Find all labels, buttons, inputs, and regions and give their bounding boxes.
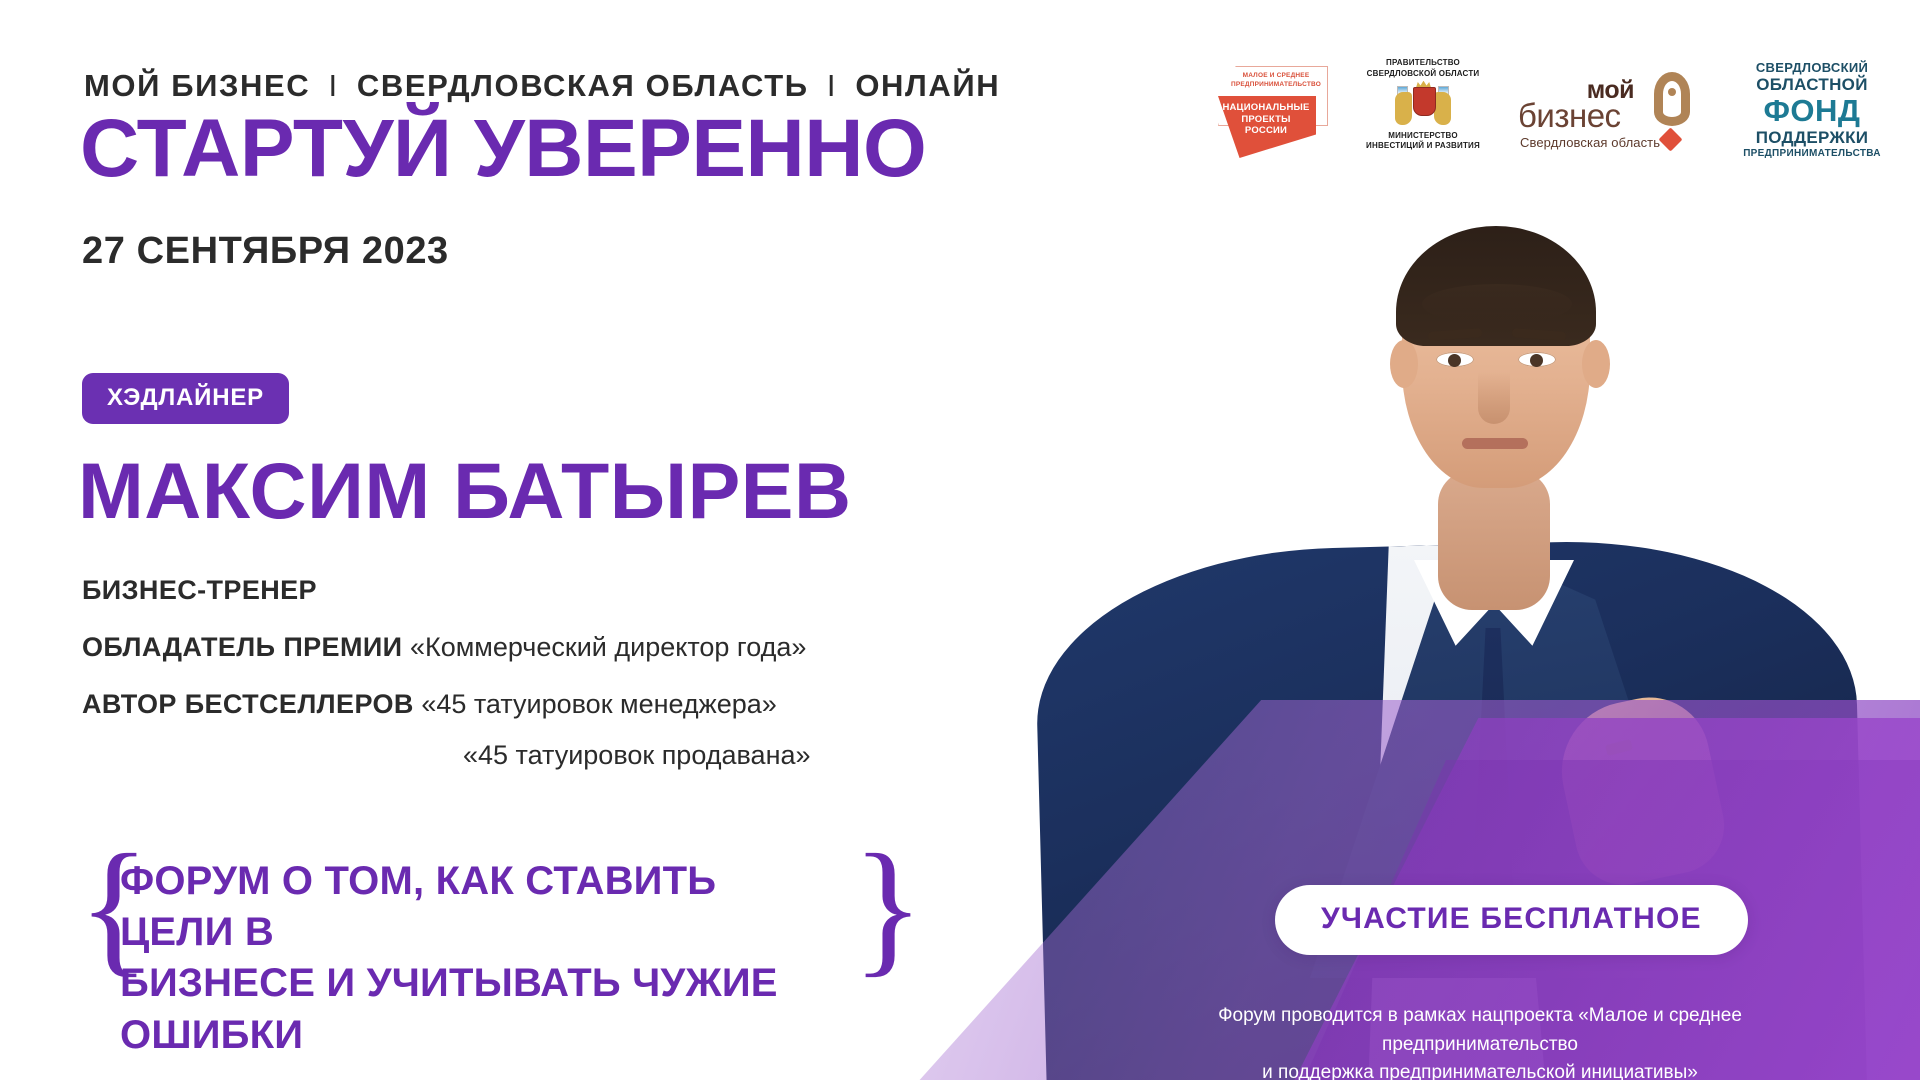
- gov-top-line-2: СВЕРДЛОВСКОЙ ОБЛАСТИ: [1364, 69, 1482, 80]
- event-date: 27 СЕНТЯБРЯ 2023: [82, 230, 449, 273]
- book-title-2: «45 татуировок продавана»: [463, 740, 811, 770]
- arms-shield: [1413, 87, 1436, 116]
- forum-slogan: { ФОРУМ О ТОМ, КАК СТАВИТЬ ЦЕЛИ В БИЗНЕС…: [78, 848, 878, 978]
- kicker-separator-1: I: [328, 68, 338, 103]
- np-subject-lines: МАЛОЕ И СРЕДНЕЕ ПРЕДПРИНИМАТЕЛЬСТВО: [1230, 72, 1322, 90]
- fund-line-1: СВЕРДЛОВСКИЙ: [1732, 60, 1892, 75]
- slogan-line-2: БИЗНЕСЕ И УЧИТЫВАТЬ ЧУЖИЕ ОШИБКИ: [120, 958, 840, 1060]
- speaker-book-second-line: «45 татуировок продавана»: [463, 740, 811, 771]
- mb-word-main: бизнес: [1518, 97, 1621, 135]
- speaker-award: ОБЛАДАТЕЛЬ ПРЕМИИ «Коммерческий директор…: [82, 632, 806, 663]
- books-label: АВТОР БЕСТСЕЛЛЕРОВ: [82, 689, 414, 719]
- kicker-part-3: ОНЛАЙН: [855, 68, 1000, 103]
- bracket-open: {: [78, 848, 104, 978]
- mb-region: Свердловская область: [1520, 135, 1660, 150]
- neck: [1438, 470, 1550, 610]
- gov-bottom-line-2: ИНВЕСТИЦИЙ И РАЗВИТИЯ: [1364, 141, 1482, 152]
- gov-top-lines: ПРАВИТЕЛЬСТВО СВЕРДЛОВСКОЙ ОБЛАСТИ: [1364, 58, 1482, 80]
- speaker-role-text: БИЗНЕС-ТРЕНЕР: [82, 575, 317, 605]
- slogan-line-1: ФОРУМ О ТОМ, КАК СТАВИТЬ ЦЕЛИ В: [120, 856, 840, 958]
- arms-griffin-right: [1434, 92, 1451, 125]
- footer-disclaimer: Форум проводится в рамках нацпроекта «Ма…: [1120, 1002, 1840, 1080]
- gov-bottom-lines: МИНИСТЕРСТВО ИНВЕСТИЦИЙ И РАЗВИТИЯ: [1364, 131, 1482, 153]
- bracket-close: }: [852, 848, 878, 978]
- event-title: СТАРТУЙ УВЕРЕННО: [80, 106, 926, 192]
- award-value: «Коммерческий директор года»: [410, 632, 806, 662]
- speaker-books: АВТОР БЕСТСЕЛЛЕРОВ «45 татуировок менедж…: [82, 689, 777, 720]
- eye-right: [1518, 352, 1556, 367]
- fund-logo: СВЕРДЛОВСКИЙ ОБЛАСТНОЙ ФОНД ПОДДЕРЖКИ ПР…: [1732, 60, 1892, 160]
- banner-kicker: МОЙ БИЗНЕС I СВЕРДЛОВСКАЯ ОБЛАСТЬ I ОНЛА…: [84, 68, 1000, 104]
- footer-line-1: Форум проводится в рамках нацпроекта «Ма…: [1120, 1002, 1840, 1059]
- np-subject-line-1: МАЛОЕ И СРЕДНЕЕ: [1230, 72, 1322, 81]
- ear-left: [1390, 340, 1418, 388]
- free-participation-button[interactable]: УЧАСТИЕ БЕСПЛАТНОЕ: [1275, 885, 1748, 955]
- gov-top-line-1: ПРАВИТЕЛЬСТВО: [1364, 58, 1482, 69]
- speaker-name: МАКСИМ БАТЫРЕВ: [78, 450, 852, 533]
- government-logo: ПРАВИТЕЛЬСТВО СВЕРДЛОВСКОЙ ОБЛАСТИ МИНИС…: [1364, 58, 1482, 162]
- fund-line-2: ОБЛАСТНОЙ: [1732, 75, 1892, 95]
- kicker-part-1: МОЙ БИЗНЕС: [84, 68, 310, 103]
- kicker-separator-2: I: [827, 68, 837, 103]
- pin-diamond: [1658, 127, 1682, 151]
- coat-of-arms-icon: [1394, 84, 1452, 128]
- np-main-line-1: НАЦИОНАЛЬНЫЕ: [1220, 102, 1312, 114]
- book-title-1: «45 татуировок менеджера»: [421, 689, 776, 719]
- mouth: [1462, 438, 1528, 449]
- np-main-lines: НАЦИОНАЛЬНЫЕ ПРОЕКТЫ РОССИИ: [1220, 102, 1312, 137]
- nose: [1478, 372, 1510, 424]
- ear-right: [1582, 340, 1610, 388]
- pin-shape: [1654, 72, 1690, 126]
- fund-line-4: ПОДДЕРЖКИ: [1732, 128, 1892, 148]
- speaker-role: БИЗНЕС-ТРЕНЕР: [82, 575, 317, 606]
- my-business-logo: мой бизнес Свердловская область: [1518, 64, 1696, 156]
- partner-logos: МАЛОЕ И СРЕДНЕЕ ПРЕДПРИНИМАТЕЛЬСТВО НАЦИ…: [1210, 55, 1892, 165]
- fund-line-3: ФОНД: [1732, 95, 1892, 128]
- kicker-part-2: СВЕРДЛОВСКАЯ ОБЛАСТЬ: [357, 68, 809, 103]
- eye-left: [1436, 352, 1474, 367]
- event-promo-banner: МОЙ БИЗНЕС I СВЕРДЛОВСКАЯ ОБЛАСТЬ I ОНЛА…: [0, 0, 1920, 1080]
- arms-griffin-left: [1395, 92, 1412, 125]
- national-projects-logo: МАЛОЕ И СРЕДНЕЕ ПРЕДПРИНИМАТЕЛЬСТВО НАЦИ…: [1210, 60, 1328, 160]
- footer-line-2: и поддержка предпринимательской инициати…: [1120, 1059, 1840, 1080]
- slogan-text: ФОРУМ О ТОМ, КАК СТАВИТЬ ЦЕЛИ В БИЗНЕСЕ …: [120, 856, 840, 1061]
- fund-line-5: ПРЕДПРИНИМАТЕЛЬСТВА: [1732, 148, 1892, 160]
- gov-bottom-line-1: МИНИСТЕРСТВО: [1364, 131, 1482, 142]
- rocket-pin-icon: [1648, 72, 1696, 150]
- np-subject-line-2: ПРЕДПРИНИМАТЕЛЬСТВО: [1230, 81, 1322, 90]
- headliner-badge: ХЭДЛАЙНЕР: [82, 373, 289, 424]
- np-main-line-2: ПРОЕКТЫ: [1220, 114, 1312, 126]
- np-main-line-3: РОССИИ: [1220, 125, 1312, 137]
- award-label: ОБЛАДАТЕЛЬ ПРЕМИИ: [82, 632, 402, 662]
